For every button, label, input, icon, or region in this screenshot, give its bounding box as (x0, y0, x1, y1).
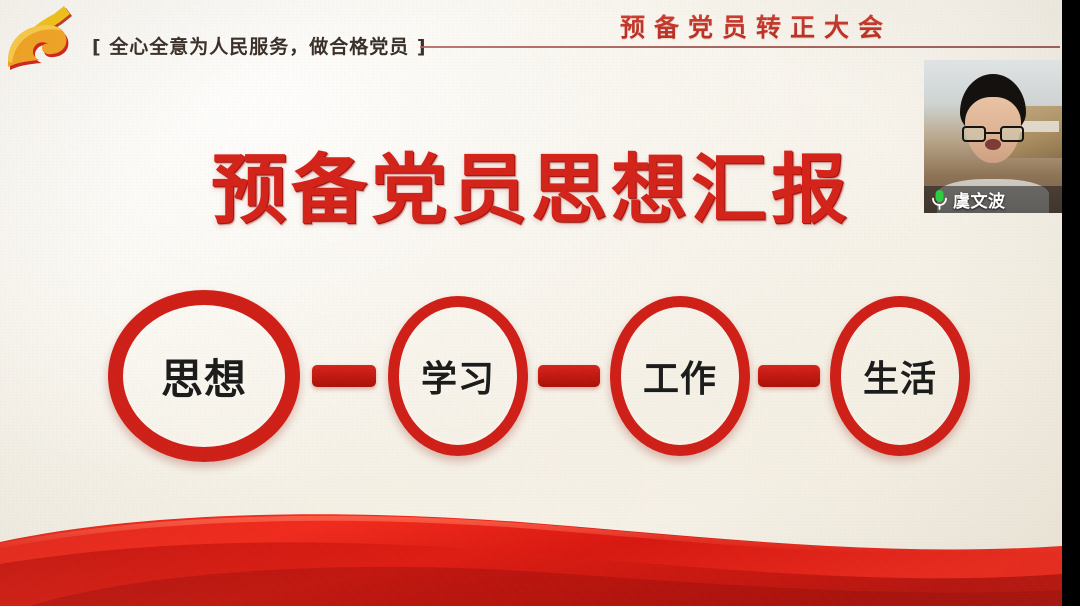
event-title: 预备党员转正大会 (620, 8, 892, 44)
screen-letterbox-bar (1062, 0, 1080, 606)
flow-node-1: 思想 (108, 290, 300, 462)
meeting-screen-share-view: [ 全心全意为人民服务，做合格党员 ] 预备党员转正大会 预备党员思想汇报 思想… (0, 0, 1080, 606)
glasses-left-lens (962, 126, 986, 142)
header-divider-line (420, 46, 1060, 48)
participant-video-tile[interactable]: 虞文波 (924, 60, 1062, 213)
flow-connector-1 (312, 365, 376, 387)
microphone-icon[interactable] (930, 189, 949, 210)
decorative-red-ribbon (0, 446, 1062, 606)
hammer-and-sickle-emblem-icon (4, 2, 90, 74)
page-title: 预备党员思想汇报 (0, 128, 1062, 238)
flow-node-3: 工作 (610, 296, 750, 456)
participant-glasses (962, 126, 1024, 143)
glasses-bridge (986, 132, 1000, 134)
participant-name-plate: 虞文波 (924, 186, 1062, 213)
participant-name: 虞文波 (953, 187, 1006, 212)
flow-node-label: 学习 (421, 350, 495, 402)
slogan-text: [ 全心全意为人民服务，做合格党员 ] (92, 32, 427, 59)
flow-node-4: 生活 (830, 296, 970, 456)
flow-node-label: 工作 (643, 350, 717, 402)
flow-node-label: 思想 (161, 346, 247, 407)
slogan-label: [ 全心全意为人民服务，做合格党员 ] (92, 36, 427, 58)
flow-node-2: 学习 (388, 296, 528, 456)
flow-node-label: 生活 (863, 350, 937, 402)
presentation-slide: [ 全心全意为人民服务，做合格党员 ] 预备党员转正大会 预备党员思想汇报 思想… (0, 0, 1062, 606)
flow-connector-2 (538, 365, 600, 387)
flow-diagram: 思想 学习 工作 生活 (0, 286, 1062, 466)
glasses-right-lens (1000, 126, 1024, 142)
flow-connector-3 (758, 365, 820, 387)
